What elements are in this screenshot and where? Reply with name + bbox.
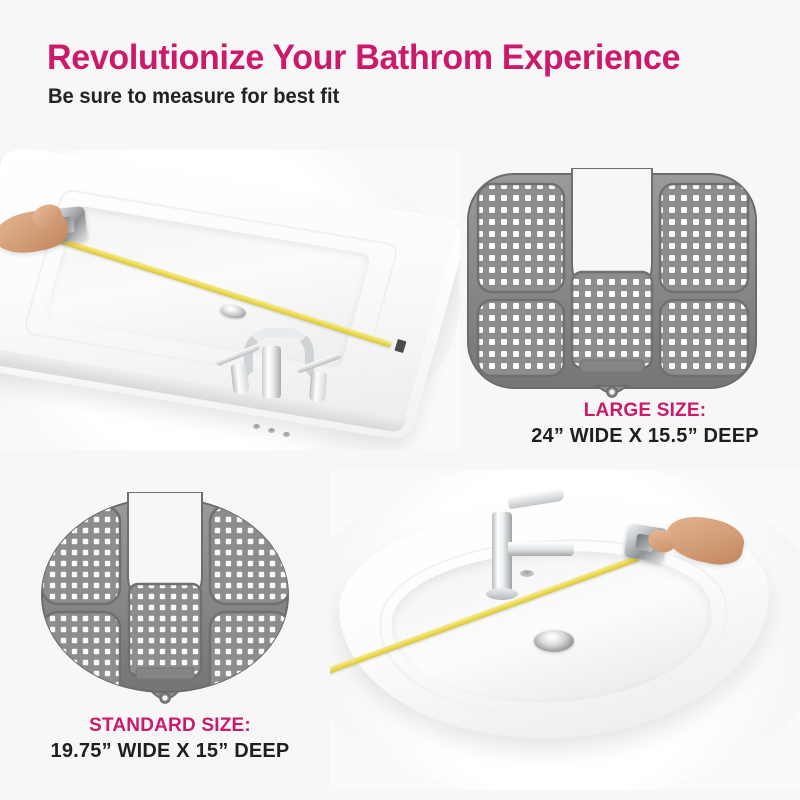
standard-size-label: STANDARD SIZE: xyxy=(15,715,325,737)
mat-embossed-logo xyxy=(136,668,194,679)
faucet-spout xyxy=(262,346,281,398)
large-size-dimensions: 24” WIDE X 15.5” DEEP xyxy=(490,425,800,448)
deck-hole-icon xyxy=(268,428,275,433)
deck-hole-icon xyxy=(253,424,260,429)
product-image-large-mat xyxy=(462,168,762,400)
mixer-faucet-spout xyxy=(508,542,574,556)
mat-hang-loop xyxy=(598,386,626,397)
standard-size-dimensions: 19.75” WIDE X 15” DEEP xyxy=(15,740,325,763)
basin-drain-icon xyxy=(534,630,574,652)
mat-embossed-logo xyxy=(580,360,644,372)
product-image-standard-mat xyxy=(36,492,294,708)
vanity-measure-photo xyxy=(0,150,460,450)
header-band: Revolutionize Your Bathrom Experience Be… xyxy=(0,0,800,130)
product-infographic: Revolutionize Your Bathrom Experience Be… xyxy=(0,0,800,800)
page-subtitle: Be sure to measure for best fit xyxy=(48,84,339,110)
mixer-faucet-base xyxy=(486,588,518,600)
mat-hang-loop xyxy=(152,692,178,703)
large-size-label: LARGE SIZE: xyxy=(490,400,800,422)
caption-standard-size: STANDARD SIZE: 19.75” WIDE X 15” DEEP xyxy=(15,715,325,763)
deck-hole-icon xyxy=(283,432,290,437)
overflow-hole-icon xyxy=(520,570,534,577)
faucet-handle-left xyxy=(230,363,249,395)
mixer-faucet-lever xyxy=(507,488,564,510)
caption-large-size: LARGE SIZE: 24” WIDE X 15.5” DEEP xyxy=(490,400,800,448)
basin-measure-photo xyxy=(330,470,800,790)
faucet-handle-right xyxy=(309,371,327,402)
page-title: Revolutionize Your Bathrom Experience xyxy=(47,38,680,78)
